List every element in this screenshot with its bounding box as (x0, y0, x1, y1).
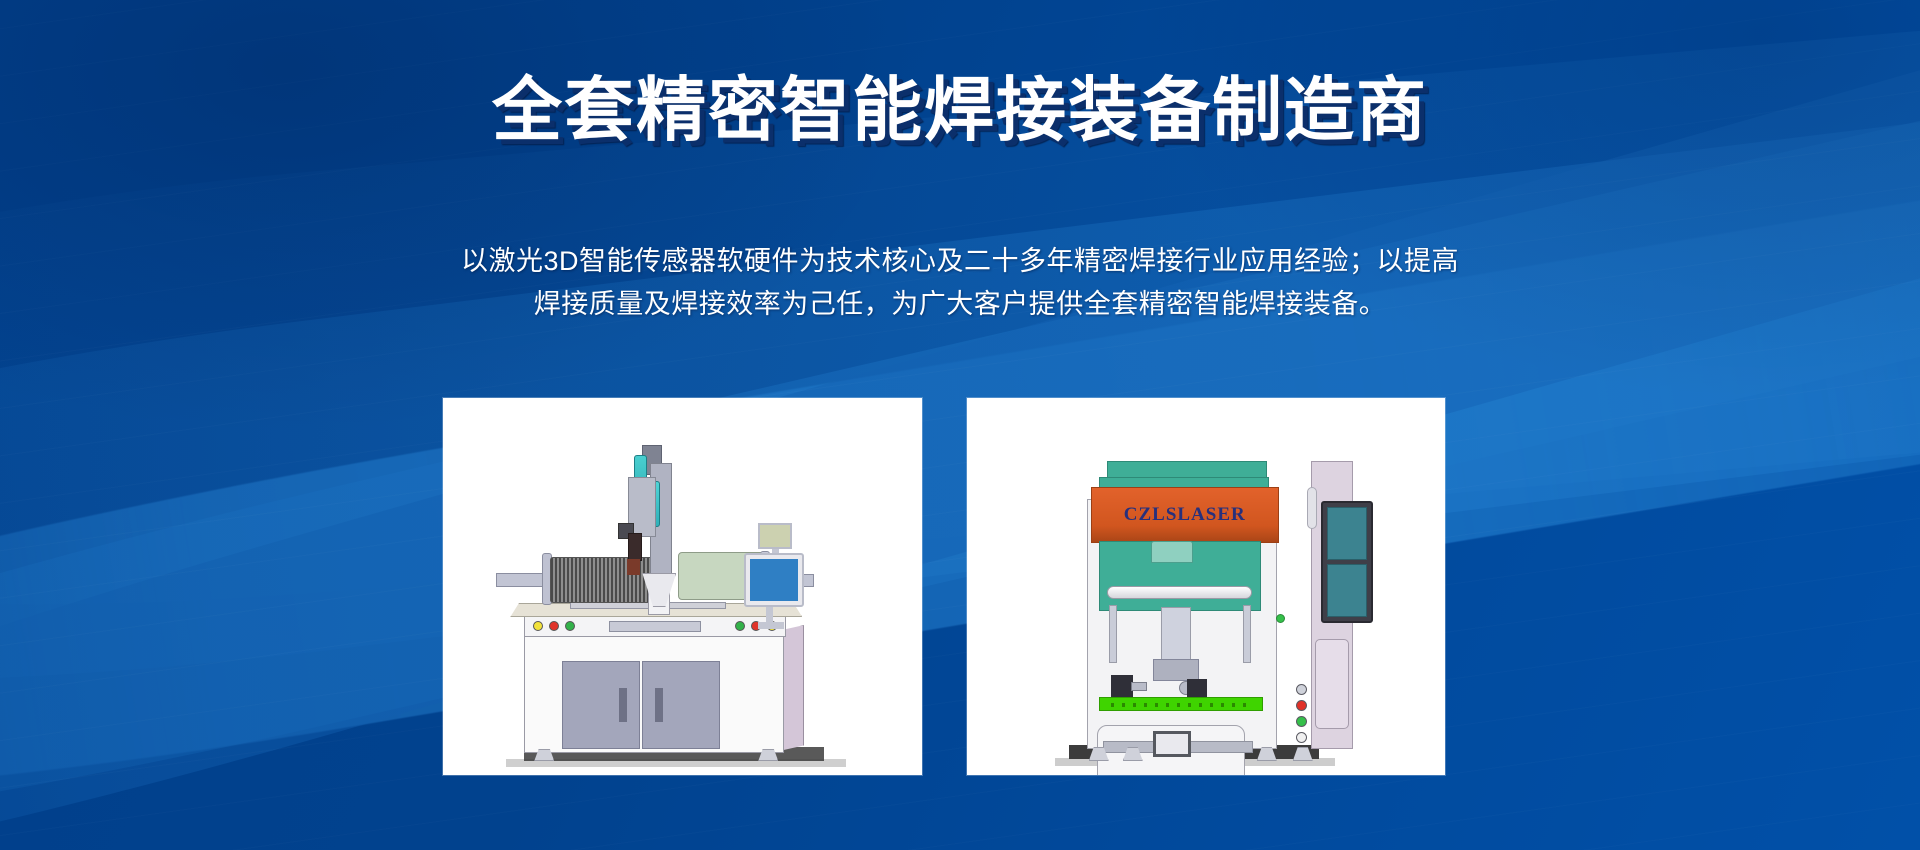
banner-subtitle: 以激光3D智能传感器软硬件为技术核心及二十多年精密焊接行业应用经验；以提高 焊接… (400, 240, 1520, 326)
brand-label: CZLSLASER (1124, 504, 1246, 526)
secondary-display (758, 523, 792, 549)
exhaust-pipe (1307, 487, 1317, 529)
pcb-pad-array (1111, 703, 1251, 707)
cabinet-door-right (642, 661, 720, 749)
machine-illustration-2: CZLSLASER (1041, 425, 1371, 775)
banner-headline: 全套精密智能焊接装备制造商 (0, 72, 1920, 149)
status-led (1276, 614, 1285, 623)
welding-nozzle-tip (627, 559, 640, 575)
hero-banner: 全套精密智能焊接装备制造商 以激光3D智能传感器软硬件为技术核心及二十多年精密焊… (0, 0, 1920, 850)
indicator-lamp-red (549, 621, 559, 631)
cabinet-access-panel (1315, 639, 1349, 729)
z-axis-head (1153, 659, 1199, 681)
product-image-gallery: CZLSLASER (443, 398, 1445, 775)
emergency-stop-button (1296, 700, 1307, 711)
selector-knob (1296, 684, 1307, 695)
start-button (1296, 716, 1307, 727)
banner-content: 全套精密智能焊接装备制造商 以激光3D智能传感器软硬件为技术核心及二十多年精密焊… (0, 0, 1920, 850)
subtitle-line-2: 焊接质量及焊接效率为己任，为广大客户提供全套精密智能焊接装备。 (400, 283, 1520, 326)
monitor-screen-upper (1327, 507, 1367, 560)
guide-post-left (1109, 605, 1117, 663)
reset-button (1296, 732, 1307, 743)
dual-monitor-stack (1321, 501, 1373, 623)
subtitle-line-1: 以激光3D智能传感器软硬件为技术核心及二十多年精密焊接行业应用经验；以提高 (400, 240, 1520, 283)
product-image-laser-seam-welder (443, 398, 922, 775)
inspection-hatch (1153, 731, 1191, 757)
vision-camera-left (1111, 675, 1133, 697)
inner-housing-tab (1151, 541, 1193, 563)
indicator-lamp-green (565, 621, 575, 631)
product-image-czlslaser-cabinet: CZLSLASER (967, 398, 1446, 775)
indicator-lamp-yellow (533, 621, 543, 631)
cabinet-door-left (562, 661, 640, 749)
monitor-screen-lower (1327, 564, 1367, 617)
cross-beam (1107, 586, 1252, 599)
door-handle (655, 688, 663, 722)
machine-illustration-1 (482, 425, 882, 775)
guide-post-right (1243, 605, 1251, 663)
indicator-lamp-green (735, 621, 745, 631)
welding-nozzle (628, 533, 642, 561)
control-panel (524, 615, 786, 637)
hmi-touchscreen (744, 553, 804, 607)
product-card-czlslaser-cabinet[interactable]: CZLSLASER (967, 398, 1446, 775)
panel-slot (609, 621, 701, 632)
tailstock-shaft-left (496, 573, 544, 587)
button-group-left (533, 621, 575, 631)
brand-banner: CZLSLASER (1091, 487, 1279, 543)
hmi-screen (750, 559, 798, 601)
door-handle (619, 688, 627, 722)
vision-camera-right (1187, 679, 1207, 697)
product-card-laser-seam-welder[interactable] (443, 398, 922, 775)
vision-camera-left-lens (1131, 682, 1147, 691)
